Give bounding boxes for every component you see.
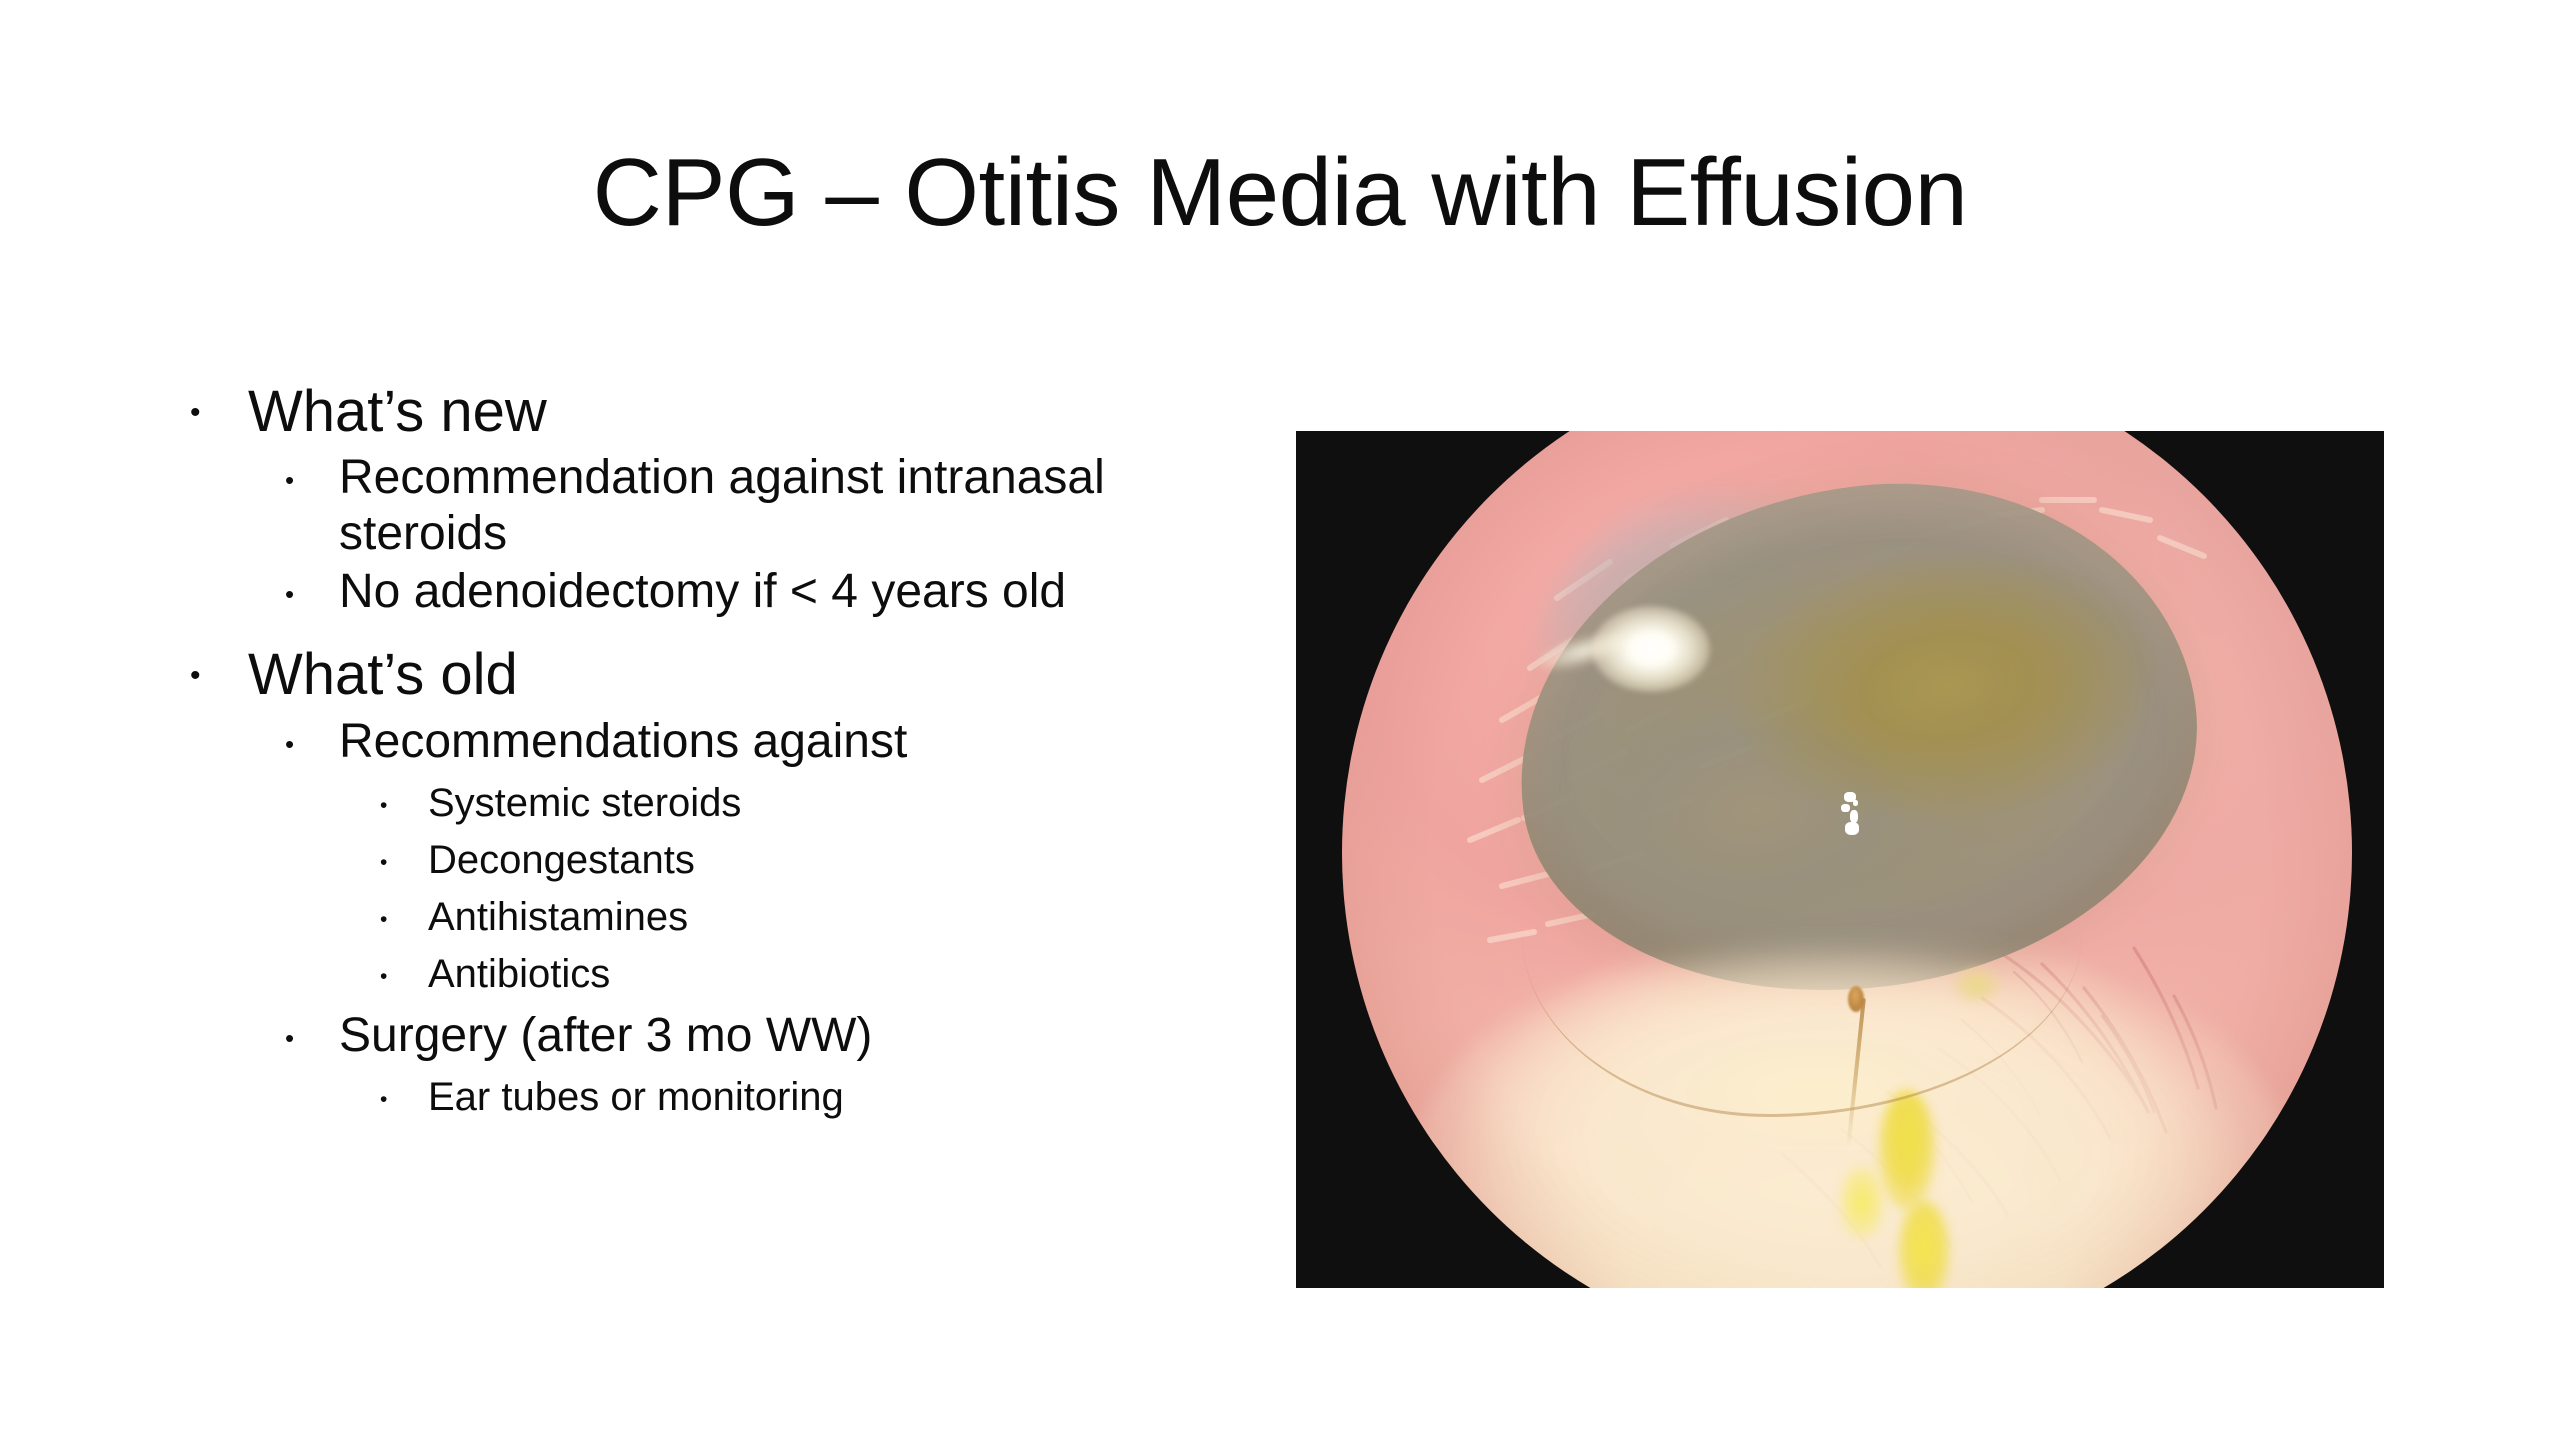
bullet-marker-icon: • bbox=[380, 951, 428, 987]
bullet-marker-icon: • bbox=[285, 450, 339, 493]
bullet-marker-icon: • bbox=[380, 780, 428, 816]
bullet-text: Recommendations against bbox=[339, 714, 1250, 770]
bullet-marker-icon: • bbox=[285, 1008, 339, 1051]
bullet-item-level2: • Surgery (after 3 mo WW) bbox=[285, 1008, 1250, 1064]
bullet-marker-icon: • bbox=[380, 1074, 428, 1110]
bullet-text: Ear tubes or monitoring bbox=[428, 1074, 1250, 1121]
bullet-item-level2: • No adenoidectomy if < 4 years old bbox=[285, 564, 1250, 620]
bullet-item-level3: • Ear tubes or monitoring bbox=[380, 1074, 1250, 1121]
bullet-item-level3: • Systemic steroids bbox=[380, 780, 1250, 827]
bullet-text: What’s old bbox=[248, 641, 1250, 709]
ear-canal-field-of-view bbox=[1342, 431, 2352, 1288]
bullet-text: No adenoidectomy if < 4 years old bbox=[339, 564, 1250, 620]
bullet-text: Surgery (after 3 mo WW) bbox=[339, 1008, 1250, 1064]
bullet-item-level2: • Recommendation against intranasal ster… bbox=[285, 450, 1250, 561]
bullet-item-level3: • Decongestants bbox=[380, 837, 1250, 884]
bullet-item-level3: • Antibiotics bbox=[380, 951, 1250, 998]
bullet-marker-icon: • bbox=[190, 641, 248, 691]
bullet-marker-icon: • bbox=[380, 894, 428, 930]
field-vignette bbox=[1342, 431, 2352, 1288]
bullet-text: Recommendation against intranasal steroi… bbox=[339, 450, 1250, 561]
content-body: • What’s new • Recommendation against in… bbox=[190, 378, 1250, 1121]
bullet-marker-icon: • bbox=[380, 837, 428, 873]
bullet-text: Systemic steroids bbox=[428, 780, 1250, 827]
bullet-marker-icon: • bbox=[190, 378, 248, 428]
bullet-item-level3: • Antihistamines bbox=[380, 894, 1250, 941]
page-title: CPG – Otitis Media with Effusion bbox=[0, 140, 2560, 246]
bullet-text: Decongestants bbox=[428, 837, 1250, 884]
bullet-marker-icon: • bbox=[285, 714, 339, 757]
slide-canvas: CPG – Otitis Media with Effusion • What’… bbox=[0, 0, 2560, 1440]
bullet-item-level1: • What’s new bbox=[190, 378, 1250, 446]
otoscopic-photo bbox=[1296, 431, 2384, 1288]
bullet-marker-icon: • bbox=[285, 564, 339, 607]
bullet-text: Antihistamines bbox=[428, 894, 1250, 941]
bullet-text: Antibiotics bbox=[428, 951, 1250, 998]
bullet-text: What’s new bbox=[248, 378, 1250, 446]
bullet-item-level2: • Recommendations against bbox=[285, 714, 1250, 770]
bullet-item-level1: • What’s old bbox=[190, 641, 1250, 709]
